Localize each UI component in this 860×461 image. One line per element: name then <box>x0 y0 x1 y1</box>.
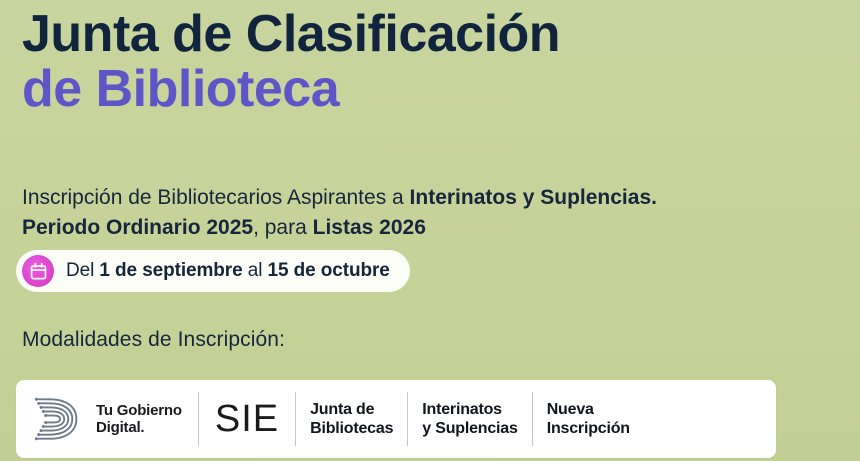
breadcrumb-item-nueva-inscripcion[interactable]: Nueva Inscripción <box>533 400 644 438</box>
date-start: 1 de septiembre <box>99 260 242 281</box>
title-line-secondary: de Biblioteca <box>22 63 842 116</box>
modalidades-label: Modalidades de Inscripción: <box>22 328 285 352</box>
description-part-2: , para <box>253 216 313 239</box>
poster-canvas: Junta de Clasificación de Biblioteca Ins… <box>0 0 860 461</box>
gobierno-digital-logo: Tu Gobierno Digital. <box>30 390 198 448</box>
description-part-1: Inscripción de Bibliotecarios Aspirantes… <box>22 186 410 209</box>
date-prefix: Del <box>66 260 99 281</box>
sie-logo: SIE <box>199 400 295 438</box>
description-bold-2: Listas 2026 <box>313 216 426 239</box>
date-middle: al <box>243 260 268 281</box>
page-title: Junta de Clasificación de Biblioteca <box>22 8 842 116</box>
gobierno-digital-line-2: Digital. <box>96 419 182 436</box>
date-range-badge: Del 1 de septiembre al 15 de octubre <box>16 250 410 292</box>
date-range-text: Del 1 de septiembre al 15 de octubre <box>66 260 390 282</box>
description-paragraph: Inscripción de Bibliotecarios Aspirantes… <box>22 183 722 244</box>
fingerprint-circuit-icon <box>30 390 88 448</box>
date-end: 15 de octubre <box>268 260 390 281</box>
calendar-icon <box>22 255 54 287</box>
breadcrumb-item-interinatos-suplencias[interactable]: Interinatos y Suplencias <box>408 400 531 438</box>
logo-breadcrumb-card: Tu Gobierno Digital. SIE Junta de Biblio… <box>16 380 776 458</box>
gobierno-digital-line-1: Tu Gobierno <box>96 402 182 419</box>
title-line-primary: Junta de Clasificación <box>22 8 842 61</box>
breadcrumb-item-junta-bibliotecas[interactable]: Junta de Bibliotecas <box>296 400 407 438</box>
gobierno-digital-wordmark: Tu Gobierno Digital. <box>96 402 182 437</box>
